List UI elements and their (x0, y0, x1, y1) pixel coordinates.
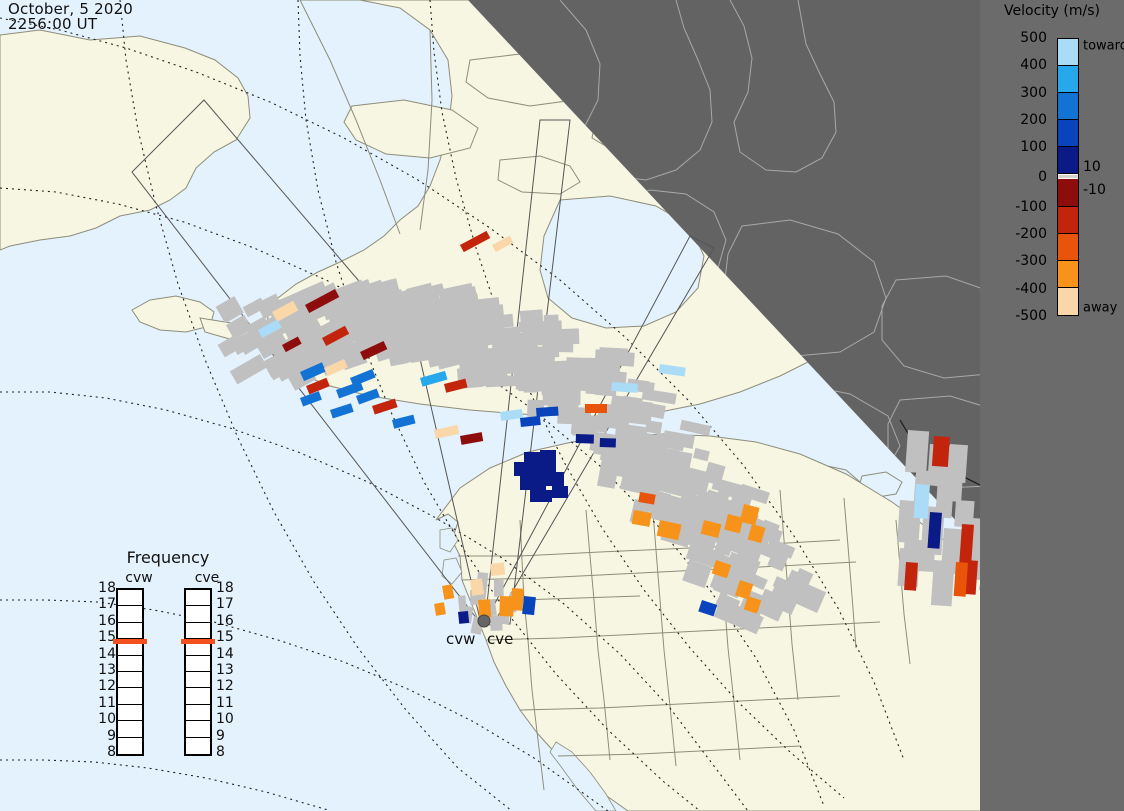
frequency-bar-cvw[interactable] (116, 588, 144, 756)
frequency-title: Frequency (88, 548, 248, 567)
frequency-tick-13: 13 (216, 662, 234, 678)
frequency-cell (118, 721, 142, 737)
site-label-cvw: cvw (446, 630, 475, 648)
colorbar-tick-400: 400 (1020, 57, 1047, 73)
colorbar-tick--200: -200 (1015, 226, 1047, 242)
frequency-cell (186, 672, 210, 688)
velocity-cell (522, 596, 536, 615)
colorbar-inner-negative: -10 (1083, 182, 1106, 198)
colorbar-band-2 (1058, 93, 1078, 120)
frequency-tick-15: 15 (216, 629, 234, 645)
frequency-cell (186, 656, 210, 672)
frequency-cell (118, 738, 142, 754)
frequency-name-cvw: cvw (116, 570, 162, 586)
frequency-ticks-cve: 18171615141312111098 (216, 588, 238, 756)
ground-scatter-cell (485, 375, 516, 387)
ground-scatter-cell (529, 346, 545, 366)
velocity-cell (600, 438, 616, 448)
colorbar-tick-0: 0 (1038, 169, 1047, 185)
frequency-tick-17: 17 (98, 596, 116, 612)
frequency-cell (118, 590, 142, 606)
ground-scatter-cell (548, 337, 573, 352)
velocity-cell (514, 462, 536, 476)
colorbar-tick-500: 500 (1020, 30, 1047, 46)
colorbar-band-0 (1058, 39, 1078, 66)
frequency-tick-12: 12 (216, 678, 234, 694)
frequency-cell (118, 623, 142, 639)
velocity-cell (490, 563, 505, 576)
ground-scatter-cell (514, 366, 538, 381)
velocity-cell (536, 406, 559, 417)
ground-scatter-cell (520, 333, 550, 345)
frequency-tick-16: 16 (216, 613, 234, 629)
frequency-cell (186, 623, 210, 639)
frequency-tick-8: 8 (107, 744, 116, 760)
timestamp-time: 2256:00 UT (8, 17, 133, 32)
velocity-cell (552, 486, 568, 498)
frequency-marker-cve (181, 639, 215, 644)
colorbar-band-10 (1058, 288, 1078, 315)
frequency-cell (186, 606, 210, 622)
velocity-cell (458, 611, 469, 624)
ground-scatter-cell (645, 420, 662, 434)
velocity-cell (927, 512, 941, 549)
frequency-tick-16: 16 (98, 613, 116, 629)
colorbar-ticks: 5004003002001000-100-200-300-400-500 (980, 38, 1053, 316)
ground-scatter-cell (904, 520, 920, 554)
frequency-tick-9: 9 (216, 728, 225, 744)
ground-scatter-cell (607, 351, 635, 367)
colorbar-tick--400: -400 (1015, 281, 1047, 297)
frequency-tick-17: 17 (216, 596, 234, 612)
colorbar-tick--100: -100 (1015, 199, 1047, 215)
colorbar-band-6 (1058, 179, 1078, 206)
frequency-cell (186, 738, 210, 754)
ground-scatter-cell (947, 444, 968, 483)
colorbar-band-3 (1058, 120, 1078, 147)
timestamp-block: October, 5 2020 2256:00 UT (8, 2, 133, 32)
colorbar-tick-300: 300 (1020, 85, 1047, 101)
frequency-tick-18: 18 (216, 580, 234, 596)
frequency-tick-14: 14 (216, 646, 234, 662)
frequency-cell (186, 721, 210, 737)
frequency-tick-12: 12 (98, 678, 116, 694)
ground-scatter-cell (493, 337, 520, 355)
velocity-cell (585, 404, 607, 413)
ground-scatter-cell (422, 291, 442, 315)
frequency-cell (118, 606, 142, 622)
frequency-cell (118, 672, 142, 688)
frequency-cell (118, 705, 142, 721)
ground-scatter-cell (554, 375, 572, 400)
colorbar-away-label: away (1083, 301, 1117, 316)
colorbar-band-4 (1058, 147, 1078, 174)
frequency-tick-8: 8 (216, 744, 225, 760)
velocity-cell (530, 490, 552, 502)
colorbar-band-1 (1058, 66, 1078, 93)
ground-scatter-cell (490, 615, 503, 630)
velocity-cell (540, 450, 556, 462)
ground-scatter-cell (905, 430, 929, 473)
velocity-cell (510, 588, 524, 611)
frequency-tick-10: 10 (98, 711, 116, 727)
frequency-tick-11: 11 (98, 695, 116, 711)
frequency-cell (118, 656, 142, 672)
colorbar-tick--300: -300 (1015, 253, 1047, 269)
ground-scatter-cell (494, 580, 504, 597)
frequency-cell (186, 705, 210, 721)
velocity-cell (470, 578, 484, 596)
frequency-cell (186, 590, 210, 606)
colorbar-panel: Velocity (m/s) 5004003002001000-100-200-… (980, 0, 1124, 811)
velocity-cell (611, 382, 638, 393)
colorbar-band-7 (1058, 207, 1078, 234)
ground-scatter-cell (422, 313, 441, 331)
colorbar-tick--500: -500 (1015, 308, 1047, 324)
frequency-cell (118, 688, 142, 704)
colorbar-end-labels: toward away (1083, 38, 1124, 316)
velocity-cell (434, 602, 446, 616)
frequency-cell (186, 688, 210, 704)
ground-scatter-cell (519, 321, 546, 332)
velocity-cell (904, 562, 918, 591)
velocity-cell (932, 436, 950, 467)
colorbar-band-8 (1058, 234, 1078, 261)
ground-scatter-cell (954, 500, 974, 528)
colorbar-tick-100: 100 (1020, 139, 1047, 155)
frequency-marker-cvw (113, 639, 147, 644)
frequency-tick-9: 9 (107, 728, 116, 744)
colorbar-tick-200: 200 (1020, 112, 1047, 128)
velocity-cell (954, 562, 968, 597)
colorbar-gradient[interactable] (1057, 38, 1079, 316)
colorbar-title: Velocity (m/s) (980, 3, 1124, 19)
frequency-tick-13: 13 (98, 662, 116, 678)
ground-scatter-cell (468, 358, 492, 378)
frequency-tick-11: 11 (216, 695, 234, 711)
velocity-cell (914, 484, 930, 519)
ground-scatter-cell (931, 560, 955, 606)
radar-site-marker (478, 615, 490, 627)
visualization-canvas: October, 5 2020 2256:00 UT cvw cve Frequ… (0, 0, 1124, 811)
velocity-cell (546, 472, 564, 486)
frequency-tick-10: 10 (216, 711, 234, 727)
velocity-cell (520, 476, 546, 490)
frequency-ticks-cvw: 18171615141312111098 (94, 588, 116, 756)
frequency-bar-cve[interactable] (184, 588, 212, 756)
colorbar-inner-positive: 10 (1083, 159, 1101, 175)
frequency-panel: Frequency cvw 18171615141312111098 cve 1… (88, 548, 248, 780)
colorbar-band-9 (1058, 261, 1078, 288)
frequency-tick-14: 14 (98, 646, 116, 662)
site-label-cve: cve (487, 630, 513, 648)
colorbar-toward-label: toward (1083, 39, 1124, 54)
frequency-tick-18: 18 (98, 580, 116, 596)
velocity-cell (576, 434, 594, 444)
